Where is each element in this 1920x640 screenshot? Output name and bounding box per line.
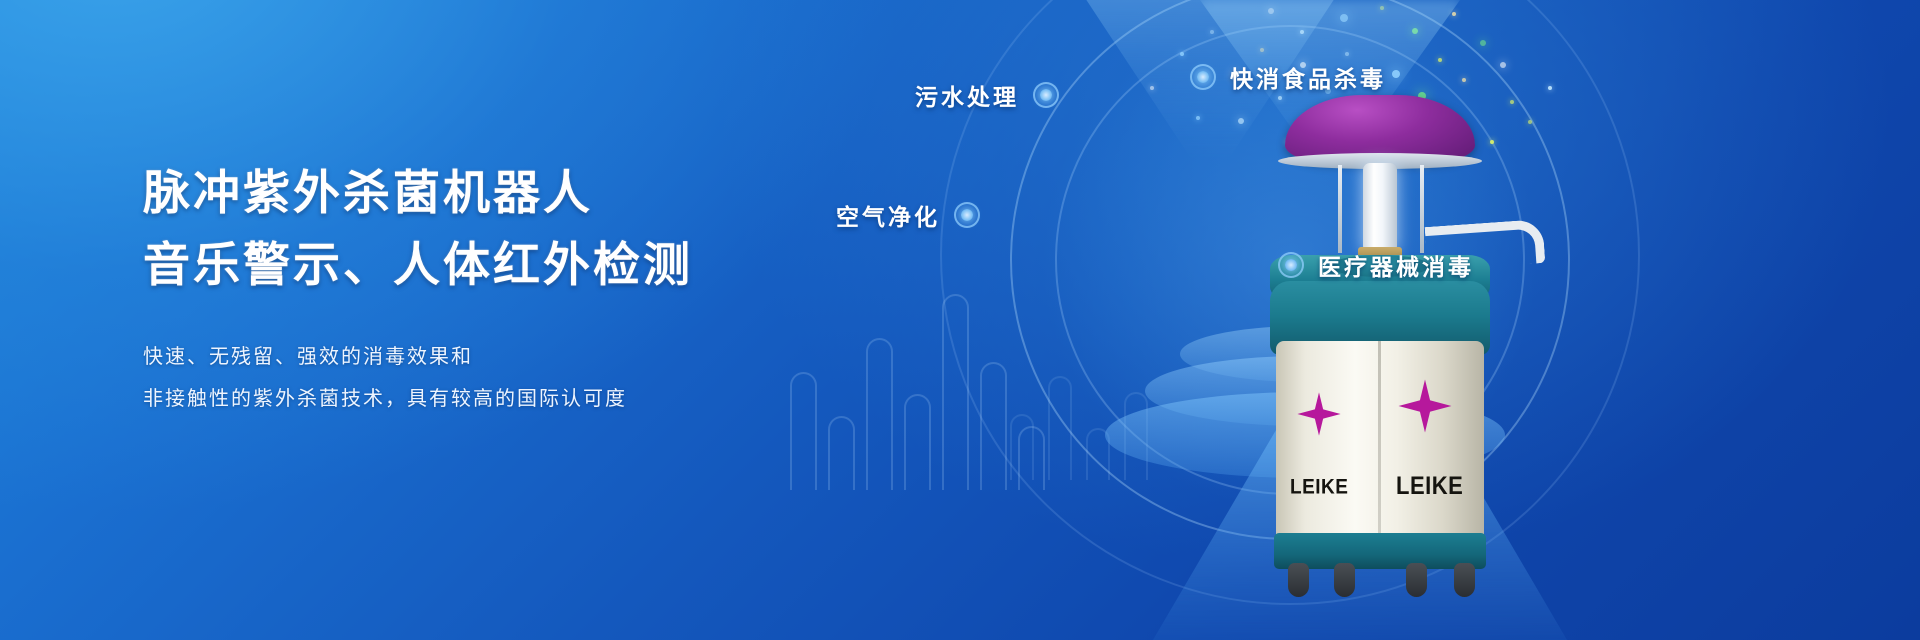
particle-dot <box>1500 62 1506 68</box>
particle-dot <box>1150 86 1154 90</box>
ring-node-icon <box>1190 64 1216 90</box>
caster-wheel <box>1454 563 1475 597</box>
body-line-2: 非接触性的紫外杀菌技术，具有较高的国际认可度 <box>143 378 843 420</box>
particle-dot <box>1438 58 1442 62</box>
body-line-1: 快速、无残留、强效的消毒效果和 <box>143 336 843 378</box>
caster-wheel <box>1334 563 1355 597</box>
callout-label: 污水处理 <box>915 78 1019 112</box>
callout-label: 空气净化 <box>836 198 940 232</box>
robot-body-edge <box>1378 341 1381 547</box>
brand-label-left: LEIKE <box>1290 476 1348 501</box>
ring-node-icon <box>1033 82 1059 108</box>
lamp-support-rod <box>1420 165 1424 253</box>
lamp-support-rod <box>1338 165 1342 253</box>
callout-medical-device[interactable]: 医疗器械消毒 <box>1278 248 1474 282</box>
caster-wheel <box>1406 563 1427 597</box>
ring-node-icon <box>954 202 980 228</box>
headline-line-1: 脉冲紫外杀菌机器人 <box>143 158 843 230</box>
four-point-star-icon <box>1297 392 1340 435</box>
ring-node-icon <box>1278 252 1304 278</box>
brand-label-right: LEIKE <box>1396 471 1463 500</box>
callout-fmcg-food-sterilize[interactable]: 快消食品杀毒 <box>1190 60 1386 94</box>
sound-wave-decoration-secondary <box>1010 340 1148 480</box>
body-copy: 快速、无残留、强效的消毒效果和 非接触性的紫外杀菌技术，具有较高的国际认可度 <box>143 336 843 420</box>
caster-wheel <box>1288 563 1309 597</box>
callout-label: 医疗器械消毒 <box>1318 248 1474 282</box>
banner-copy: 脉冲紫外杀菌机器人 音乐警示、人体红外检测 快速、无残留、强效的消毒效果和 非接… <box>143 158 843 420</box>
four-point-star-icon <box>1399 380 1452 433</box>
headline-line-2: 音乐警示、人体红外检测 <box>143 230 843 302</box>
uv-disinfection-robot: LEIKE LEIKE <box>1230 95 1530 585</box>
callout-label: 快消食品杀毒 <box>1230 60 1386 94</box>
particle-dot <box>1196 116 1200 120</box>
promo-banner: LEIKE LEIKE 脉冲紫外杀菌机器人 音乐警示、人体红外检测 快速、无残留… <box>0 0 1920 640</box>
particle-dot <box>1210 30 1214 34</box>
particle-dot <box>1180 52 1184 56</box>
particle-dot <box>1480 40 1486 46</box>
particle-dot <box>1548 86 1552 90</box>
callout-waste-water[interactable]: 污水处理 <box>915 78 1059 112</box>
particle-dot <box>1462 78 1466 82</box>
callout-air-purification[interactable]: 空气净化 <box>836 198 980 232</box>
uv-lamp-tube <box>1363 163 1397 253</box>
particle-dot <box>1452 12 1456 16</box>
